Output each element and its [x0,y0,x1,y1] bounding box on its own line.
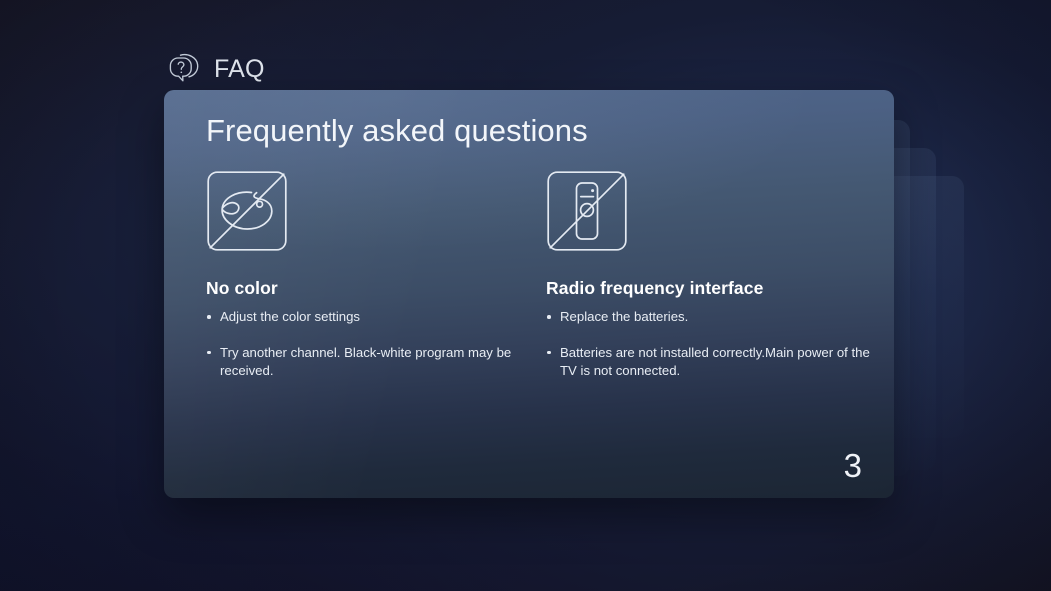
list-item: Replace the batteries. [546,308,872,326]
faq-bullets-no-color: Adjust the color settings Try another ch… [206,308,546,379]
faq-speech-bubble-question-icon [164,49,204,89]
faq-screen: FAQ Frequently asked questions [0,0,1051,591]
remote-control-slashed-icon [546,170,886,252]
faq-card: Frequently asked questions [164,90,894,498]
page-header: FAQ [164,48,265,90]
page-title: FAQ [214,57,265,82]
faq-item-radio-frequency: Radio frequency interface Replace the ba… [546,170,886,379]
list-item: Adjust the color settings [206,308,532,326]
list-item: Batteries are not installed correctly.Ma… [546,344,872,380]
no-color-palette-slashed-icon [206,170,546,252]
list-item: Try another channel. Black-white program… [206,344,532,380]
card-title: Frequently asked questions [206,112,588,149]
page-number: 3 [844,449,862,482]
faq-bullets-radio-frequency: Replace the batteries. Batteries are not… [546,308,886,379]
faq-heading-no-color: No color [206,278,546,299]
faq-heading-radio-frequency: Radio frequency interface [546,278,886,299]
faq-columns: No color Adjust the color settings Try a… [206,170,860,379]
faq-item-no-color: No color Adjust the color settings Try a… [206,170,546,379]
